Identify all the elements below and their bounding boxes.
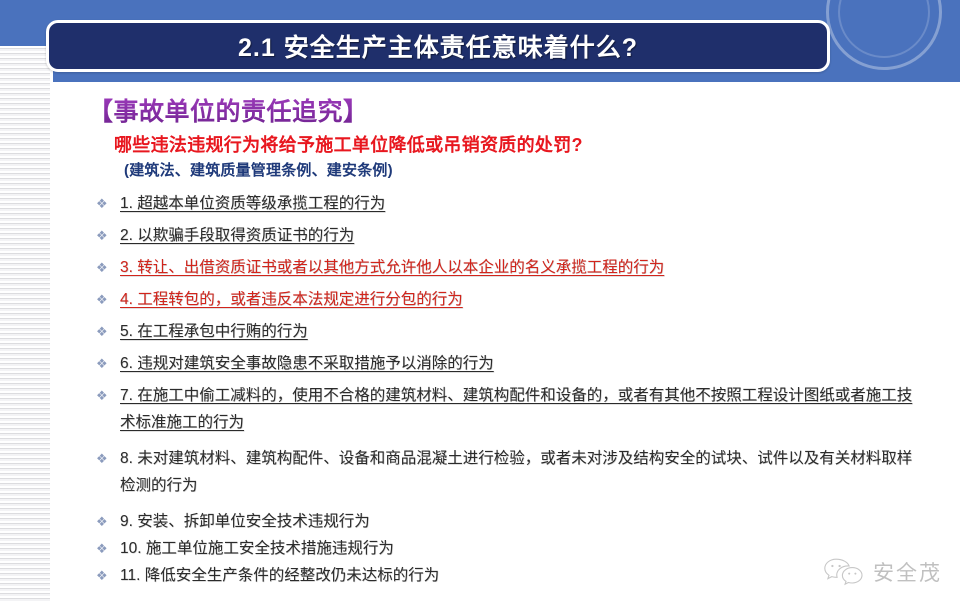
list-item: ❖8. 未对建筑材料、建筑构配件、设备和商品混凝土进行检验，或者未对涉及结构安全…	[96, 445, 926, 499]
diamond-bullet-icon: ❖	[96, 562, 120, 589]
list-item-text: 7. 在施工中偷工减料的，使用不合格的建筑材料、建筑构配件和设备的，或者有其他不…	[120, 382, 926, 436]
wechat-icon	[822, 557, 864, 587]
diamond-bullet-icon: ❖	[96, 535, 120, 562]
list-item-text: 2. 以欺骗手段取得资质证书的行为	[120, 222, 926, 249]
slide-canvas: 2.1 安全生产主体责任意味着什么? 【事故单位的责任追究】 哪些违法违规行为将…	[0, 0, 960, 601]
diamond-bullet-icon: ❖	[96, 445, 120, 472]
violation-list: ❖1. 超越本单位资质等级承揽工程的行为❖2. 以欺骗手段取得资质证书的行为❖3…	[96, 190, 926, 589]
law-reference-line: (建筑法、建筑质量管理条例、建安条例)	[124, 159, 393, 180]
list-item-text: 9. 安装、拆卸单位安全技术违规行为	[120, 508, 926, 535]
diamond-bullet-icon: ❖	[96, 350, 120, 377]
list-item: ❖11. 降低安全生产条件的经整改仍未达标的行为	[96, 562, 926, 589]
left-stripe-decoration	[0, 46, 50, 601]
list-item: ❖2. 以欺骗手段取得资质证书的行为	[96, 222, 926, 249]
list-item: ❖5. 在工程承包中行贿的行为	[96, 318, 926, 345]
list-item: ❖9. 安装、拆卸单位安全技术违规行为	[96, 508, 926, 535]
watermark: 安全茂	[822, 557, 942, 587]
diamond-bullet-icon: ❖	[96, 222, 120, 249]
section-heading: 【事故单位的责任追究】	[88, 92, 369, 128]
list-item: ❖10. 施工单位施工安全技术措施违规行为	[96, 535, 926, 562]
list-item-text: 4. 工程转包的，或者违反本法规定进行分包的行为	[120, 286, 926, 313]
list-item-text: 1. 超越本单位资质等级承揽工程的行为	[120, 190, 926, 217]
sub-heading: 哪些违法违规行为将给予施工单位降低或吊销资质的处罚?	[114, 131, 583, 157]
list-item-text: 5. 在工程承包中行贿的行为	[120, 318, 926, 345]
list-item-text: 8. 未对建筑材料、建筑构配件、设备和商品混凝土进行检验，或者未对涉及结构安全的…	[120, 445, 926, 499]
slide-title-plaque: 2.1 安全生产主体责任意味着什么?	[46, 20, 830, 72]
list-item: ❖4. 工程转包的，或者违反本法规定进行分包的行为	[96, 286, 926, 313]
list-item: ❖6. 违规对建筑安全事故隐患不采取措施予以消除的行为	[96, 350, 926, 377]
page-title: 2.1 安全生产主体责任意味着什么?	[238, 28, 638, 64]
list-item-text: 6. 违规对建筑安全事故隐患不采取措施予以消除的行为	[120, 350, 926, 377]
diamond-bullet-icon: ❖	[96, 254, 120, 281]
diamond-bullet-icon: ❖	[96, 286, 120, 313]
list-item: ❖3. 转让、出借资质证书或者以其他方式允许他人以本企业的名义承揽工程的行为	[96, 254, 926, 281]
list-item-text: 11. 降低安全生产条件的经整改仍未达标的行为	[120, 562, 926, 589]
watermark-text: 安全茂	[873, 557, 942, 587]
diamond-bullet-icon: ❖	[96, 190, 120, 217]
diamond-bullet-icon: ❖	[96, 508, 120, 535]
diamond-bullet-icon: ❖	[96, 382, 120, 409]
diamond-bullet-icon: ❖	[96, 318, 120, 345]
left-stripe-edge	[50, 46, 53, 601]
list-item-text: 10. 施工单位施工安全技术措施违规行为	[120, 535, 926, 562]
list-item-text: 3. 转让、出借资质证书或者以其他方式允许他人以本企业的名义承揽工程的行为	[120, 254, 926, 281]
list-item: ❖1. 超越本单位资质等级承揽工程的行为	[96, 190, 926, 217]
list-item: ❖7. 在施工中偷工减料的，使用不合格的建筑材料、建筑构配件和设备的，或者有其他…	[96, 382, 926, 436]
